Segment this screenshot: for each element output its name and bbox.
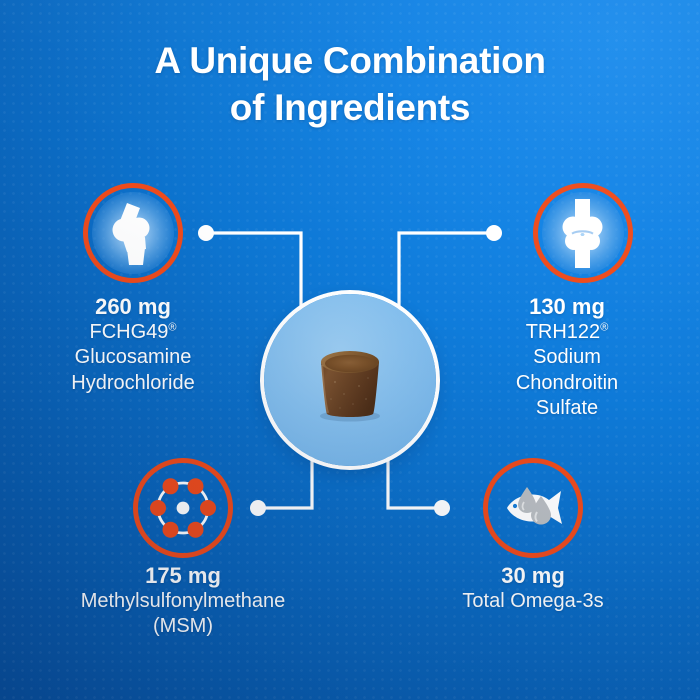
- connector-dot-bottom-left: [250, 500, 266, 516]
- soft-chew-product-icon: [307, 342, 393, 424]
- icon-node-glucosamine[interactable]: [83, 183, 183, 283]
- icon-ring: [483, 458, 583, 558]
- infographic-canvas: A Unique Combination of Ingredients: [0, 0, 700, 700]
- label-glucosamine: 260 mg FCHG49® Glucosamine Hydrochloride: [8, 293, 258, 396]
- label-msm: 175 mg Methylsulfonylmethane (MSM): [15, 562, 351, 640]
- connector-dot-top-right: [486, 225, 502, 241]
- desc-line: Chondroitin: [442, 371, 692, 396]
- icon-ring: [133, 458, 233, 558]
- connector-bottom-right: [388, 448, 441, 508]
- icon-node-msm[interactable]: [133, 458, 233, 558]
- desc-chondroitin: TRH122® Sodium Chondroitin Sulfate: [442, 320, 692, 421]
- amount-omega3: 30 mg: [420, 562, 646, 589]
- icon-ring: [83, 183, 183, 283]
- amount-msm: 175 mg: [15, 562, 351, 589]
- desc-line: TRH122®: [442, 320, 692, 345]
- desc-line: Total Omega-3s: [420, 589, 646, 614]
- connector-dot-top-left: [198, 225, 214, 241]
- amount-glucosamine: 260 mg: [8, 293, 258, 320]
- connector-bottom-left: [259, 448, 312, 508]
- amount-chondroitin: 130 mg: [442, 293, 692, 320]
- desc-line: Methylsulfonylmethane: [15, 589, 351, 614]
- desc-line: Sodium: [442, 345, 692, 370]
- desc-msm: Methylsulfonylmethane (MSM): [15, 589, 351, 639]
- center-product-circle: [264, 294, 436, 466]
- desc-line: Hydrochloride: [8, 371, 258, 396]
- icon-node-omega3[interactable]: [483, 458, 583, 558]
- desc-line: FCHG49®: [8, 320, 258, 345]
- desc-glucosamine: FCHG49® Glucosamine Hydrochloride: [8, 320, 258, 396]
- icon-node-chondroitin[interactable]: [533, 183, 633, 283]
- desc-line: Glucosamine: [8, 345, 258, 370]
- registered-mark: ®: [168, 322, 176, 334]
- icon-ring: [533, 183, 633, 283]
- registered-mark: ®: [600, 322, 608, 334]
- label-omega3: 30 mg Total Omega-3s: [420, 562, 646, 614]
- desc-line: (MSM): [15, 614, 351, 639]
- connector-dot-bottom-right: [434, 500, 450, 516]
- label-chondroitin: 130 mg TRH122® Sodium Chondroitin Sulfat…: [442, 293, 692, 421]
- desc-omega3: Total Omega-3s: [420, 589, 646, 614]
- desc-line: Sulfate: [442, 396, 692, 421]
